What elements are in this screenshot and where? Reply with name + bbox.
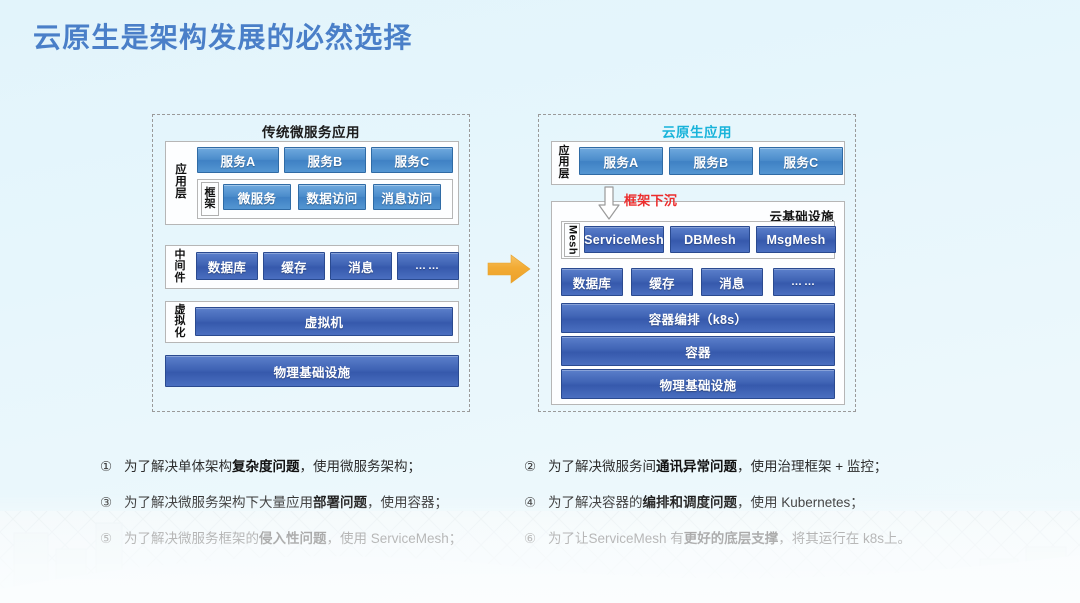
- bullet-item: ⑥ 为了让ServiceMesh 有更好的底层支撑，将其运行在 k8s上。: [524, 527, 974, 563]
- cloud-mesh-label: Mesh: [564, 223, 580, 257]
- cloud-chip-service-a[interactable]: 服务A: [579, 147, 663, 175]
- cloud-chip-message[interactable]: 消息: [701, 268, 763, 296]
- legacy-framework-label: 框架: [201, 182, 219, 216]
- bullet-number: ④: [524, 495, 548, 511]
- bullet-text: 为了解决容器的编排和调度问题，使用 Kubernetes；: [548, 491, 864, 511]
- legacy-chip-more[interactable]: ……: [397, 252, 459, 280]
- legacy-chip-cache[interactable]: 缓存: [263, 252, 325, 280]
- cloud-chip-physical-infrastructure[interactable]: 物理基础设施: [561, 369, 835, 399]
- bullet-item: ③ 为了解决微服务架构下大量应用部署问题，使用容器；: [100, 491, 520, 527]
- bullet-number: ⑥: [524, 531, 548, 547]
- cloud-chip-more[interactable]: ……: [773, 268, 835, 296]
- legacy-virtualization-label: 虚拟化: [171, 302, 189, 342]
- page-title: 云原生是架构发展的必然选择: [33, 16, 413, 56]
- bullets-left-column: ① 为了解决单体架构复杂度问题，使用微服务架构； ③ 为了解决微服务架构下大量应…: [100, 455, 520, 563]
- legacy-chip-service-a[interactable]: 服务A: [197, 147, 279, 173]
- cloud-chip-service-b[interactable]: 服务B: [669, 147, 753, 175]
- bullet-text: 为了解决微服务间通讯异常问题，使用治理框架 + 监控；: [548, 455, 887, 475]
- legacy-middleware-label: 中间件: [171, 246, 189, 288]
- bullet-item: ① 为了解决单体架构复杂度问题，使用微服务架构；: [100, 455, 520, 491]
- bullet-text: 为了解决微服务框架的侵入性问题，使用 ServiceMesh；: [124, 527, 462, 547]
- bullet-text: 为了解决单体架构复杂度问题，使用微服务架构；: [124, 455, 421, 475]
- bullet-number: ②: [524, 459, 548, 475]
- bullet-item: ② 为了解决微服务间通讯异常问题，使用治理框架 + 监控；: [524, 455, 974, 491]
- panel-cloud-title: 云原生应用: [539, 121, 855, 141]
- cloud-chip-container[interactable]: 容器: [561, 336, 835, 366]
- panel-legacy-architecture: 传统微服务应用 应用层 服务A 服务B 服务C 框架 微服务 数据访问 消息访问…: [152, 114, 470, 412]
- legacy-chip-database[interactable]: 数据库: [196, 252, 258, 280]
- cloud-chip-service-c[interactable]: 服务C: [759, 147, 843, 175]
- cloud-chip-container-orchestration[interactable]: 容器编排（k8s）: [561, 303, 835, 333]
- framework-sink-arrow-icon: [598, 186, 620, 220]
- legacy-chip-physical-infrastructure[interactable]: 物理基础设施: [165, 355, 459, 387]
- cloud-app-layer-label: 应用层: [555, 143, 573, 183]
- legacy-chip-microservice[interactable]: 微服务: [223, 184, 291, 210]
- cloud-chip-database[interactable]: 数据库: [561, 268, 623, 296]
- bullet-number: ①: [100, 459, 124, 475]
- bullet-item: ⑤ 为了解决微服务框架的侵入性问题，使用 ServiceMesh；: [100, 527, 520, 563]
- cloud-chip-cache[interactable]: 缓存: [631, 268, 693, 296]
- bullets-right-column: ② 为了解决微服务间通讯异常问题，使用治理框架 + 监控； ④ 为了解决容器的编…: [524, 455, 974, 563]
- bullet-number: ⑤: [100, 531, 124, 547]
- panel-legacy-title: 传统微服务应用: [153, 121, 469, 141]
- framework-sink-label: 框架下沉: [624, 190, 677, 209]
- legacy-app-layer-label: 应用层: [171, 145, 191, 221]
- panel-cloud-native-architecture: 云原生应用 应用层 服务A 服务B 服务C 云基础设施 Mesh Service…: [538, 114, 856, 412]
- bullet-item: ④ 为了解决容器的编排和调度问题，使用 Kubernetes；: [524, 491, 974, 527]
- legacy-chip-service-c[interactable]: 服务C: [371, 147, 453, 173]
- cloud-chip-msgmesh[interactable]: MsgMesh: [756, 226, 836, 253]
- legacy-chip-service-b[interactable]: 服务B: [284, 147, 366, 173]
- cloud-chip-servicemesh[interactable]: ServiceMesh: [584, 226, 664, 253]
- bullet-text: 为了解决微服务架构下大量应用部署问题，使用容器；: [124, 491, 448, 511]
- legacy-chip-message[interactable]: 消息: [330, 252, 392, 280]
- bullet-text: 为了让ServiceMesh 有更好的底层支撑，将其运行在 k8s上。: [548, 527, 911, 547]
- bullet-number: ③: [100, 495, 124, 511]
- legacy-chip-virtual-machine[interactable]: 虚拟机: [195, 307, 453, 336]
- legacy-chip-data-access[interactable]: 数据访问: [298, 184, 366, 210]
- transition-arrow: [487, 253, 531, 285]
- cloud-chip-dbmesh[interactable]: DBMesh: [670, 226, 750, 253]
- legacy-chip-message-access[interactable]: 消息访问: [373, 184, 441, 210]
